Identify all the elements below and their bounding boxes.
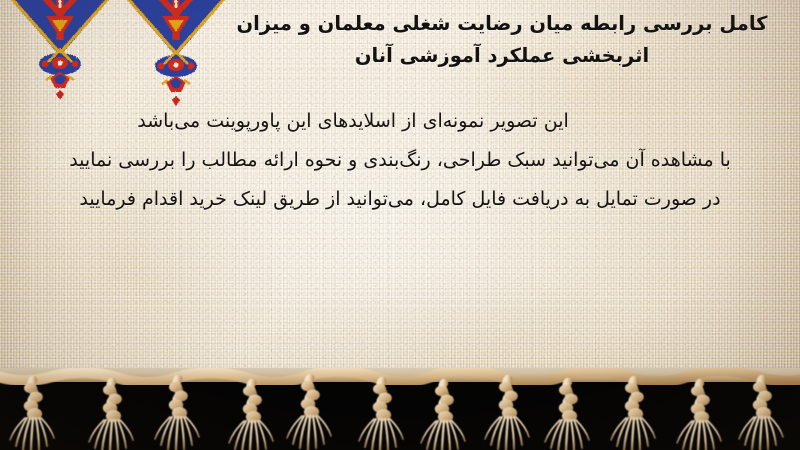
persian-medallion-ornament-icon [118, 0, 234, 114]
powerpoint-slide-preview: کامل بررسی رابطه میان رضایت شغلی معلمان … [0, 0, 800, 450]
slide-title-line-1: کامل بررسی رابطه میان رضایت شغلی معلمان … [222, 8, 782, 40]
body-line-sample-notice: این تصویر نمونه‌ای از اسلایدهای این پاور… [10, 112, 790, 131]
slide-title: کامل بررسی رابطه میان رضایت شغلی معلمان … [222, 8, 782, 71]
slide-body-text: این تصویر نمونه‌ای از اسلایدهای این پاور… [10, 112, 790, 229]
body-line-purchase-link: در صورت تمایل به دریافت فایل کامل، می‌تو… [10, 190, 790, 209]
slide-title-line-2: اثربخشی عملکرد آموزشی آنان [222, 40, 782, 72]
carpet-knotted-fringe [0, 368, 800, 450]
fringe-tassels-graphic [0, 368, 800, 450]
body-line-design-review: با مشاهده آن می‌توانید سبک طراحی، رنگ‌بن… [10, 151, 790, 170]
persian-medallion-ornament-icon [2, 0, 118, 114]
